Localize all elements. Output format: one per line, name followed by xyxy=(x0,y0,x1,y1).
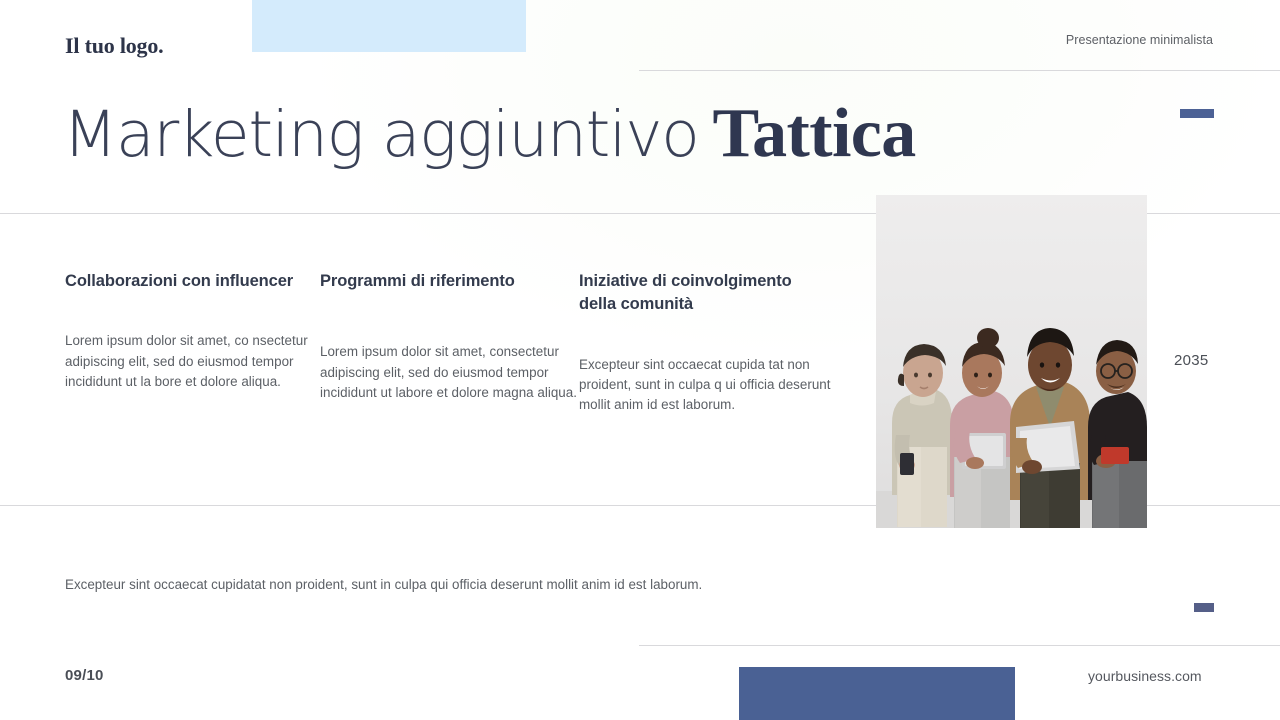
logo: Il tuo logo. xyxy=(65,33,163,59)
column-item: Programmi di riferimento Lorem ipsum dol… xyxy=(320,270,579,416)
blue-block-bottom xyxy=(739,667,1015,720)
column-body: Lorem ipsum dolor sit amet, consectetur … xyxy=(320,342,579,403)
footer-divider xyxy=(639,645,1280,646)
year-label: 2035 xyxy=(1174,352,1209,369)
light-blue-band xyxy=(252,0,526,52)
accent-bar-small xyxy=(1194,603,1214,612)
deck-label: Presentazione minimalista xyxy=(1066,33,1213,47)
page-title: Marketing aggiuntivo Tattica xyxy=(63,99,916,179)
column-heading: Programmi di riferimento xyxy=(320,270,555,293)
column-heading: Collaborazioni con influencer xyxy=(65,270,300,293)
page-title-bold: Tattica xyxy=(712,99,915,169)
column-item: Collaborazioni con influencer Lorem ipsu… xyxy=(65,270,320,416)
page-number: 09/10 xyxy=(65,667,104,684)
column-body: Lorem ipsum dolor sit amet, co nsectetur… xyxy=(65,331,320,392)
caption-text: Excepteur sint occaecat cupidatat non pr… xyxy=(65,577,702,592)
accent-bar-top xyxy=(1180,109,1214,118)
website-label: yourbusiness.com xyxy=(1088,668,1202,684)
header-divider xyxy=(639,70,1280,71)
slide-canvas: Il tuo logo. Presentazione minimalista M… xyxy=(0,0,1280,720)
page-title-light: Marketing aggiuntivo xyxy=(63,103,698,166)
column-item: Iniziative di coinvolgimento della comun… xyxy=(579,270,849,416)
columns-container: Collaborazioni con influencer Lorem ipsu… xyxy=(65,270,875,416)
column-heading: Iniziative di coinvolgimento della comun… xyxy=(579,270,829,317)
column-body: Excepteur sint occaecat cupida tat non p… xyxy=(579,355,849,416)
team-photo xyxy=(876,195,1147,528)
